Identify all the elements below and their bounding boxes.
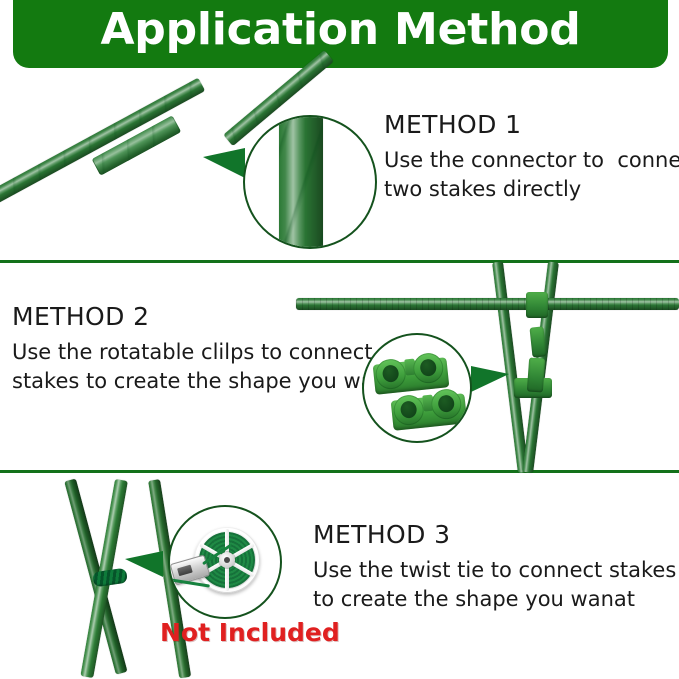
page-title: Application Method bbox=[13, 0, 668, 68]
method-2-title: METHOD 2 bbox=[12, 302, 149, 331]
method-2-description-line2: stakes to create the shape you want bbox=[12, 369, 395, 393]
method-1-title: METHOD 1 bbox=[384, 110, 521, 139]
method-3-description-line1: Use the twist tie to connect stakes bbox=[313, 558, 676, 582]
clip-band-upper bbox=[526, 292, 548, 318]
magnifier-circle bbox=[168, 505, 282, 619]
stake-ribbed-texture bbox=[296, 298, 679, 310]
section-divider-2 bbox=[0, 470, 679, 473]
garden-stake-rod-closeup bbox=[279, 115, 323, 249]
pointer-triangle bbox=[125, 551, 163, 577]
method-1-description: Use the connector to connecttwo stakes d… bbox=[384, 146, 679, 204]
method-3-title: METHOD 3 bbox=[313, 520, 450, 549]
magnifier-circle bbox=[362, 333, 472, 443]
header-banner: Application Method bbox=[13, 0, 668, 68]
infographic-canvas: Application Method METHOD 1 Use the conn… bbox=[0, 0, 679, 679]
pointer-triangle bbox=[203, 148, 245, 178]
pointer-triangle bbox=[471, 366, 509, 392]
stake-texture bbox=[0, 78, 205, 210]
method-1-description-line1: Use the connector to connect bbox=[384, 148, 679, 172]
garden-stake-rod bbox=[0, 78, 205, 210]
section-divider-1 bbox=[0, 260, 679, 263]
magnifier-circle bbox=[243, 115, 377, 249]
garden-stake-rod-horizontal bbox=[296, 298, 679, 310]
twist-tie-knot bbox=[92, 568, 128, 588]
method-2-description-line1: Use the rotatable clilps to connect bbox=[12, 340, 373, 364]
spool-hub bbox=[219, 552, 235, 568]
clip-band-lower-2 bbox=[527, 357, 545, 392]
method-3-description-line2: to create the shape you wanat bbox=[313, 587, 635, 611]
stake-texture bbox=[279, 115, 323, 249]
method-3-description: Use the twist tie to connect stakesto cr… bbox=[313, 556, 676, 614]
method-1-description-line2: two stakes directly bbox=[384, 177, 581, 201]
method-2-description: Use the rotatable clilps to connectstake… bbox=[12, 338, 395, 396]
not-included-note: Not Included bbox=[160, 618, 340, 647]
clip-band-middle bbox=[529, 326, 546, 357]
rotatable-clip bbox=[390, 389, 468, 435]
